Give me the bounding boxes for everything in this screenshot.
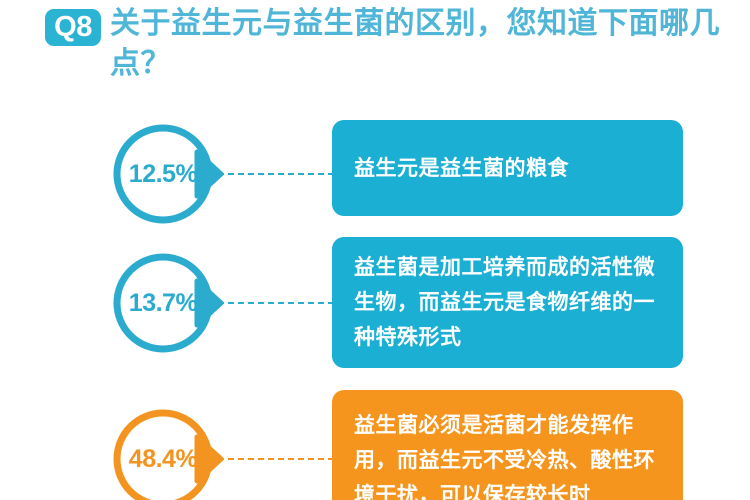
percentage-value: 13.7% — [113, 253, 213, 353]
answer-box: 益生菌是加工培养而成的活性微生物，而益生元是食物纤维的一种特殊形式 — [332, 237, 683, 368]
percentage-bubble: 48.4% — [113, 409, 213, 500]
dashed-connector — [218, 173, 334, 175]
percentage-value: 12.5% — [113, 124, 213, 224]
page-title: 关于益生元与益生菌的区别，您知道下面哪几点？ — [110, 4, 730, 84]
answer-box: 益生元是益生菌的粮食 — [332, 120, 683, 216]
answer-text: 益生菌是加工培养而成的活性微生物，而益生元是食物纤维的一种特殊形式 — [354, 250, 661, 355]
percentage-value: 48.4% — [113, 409, 213, 500]
stat-row: 48.4% 益生菌必须是活菌才能发挥作用，而益生元不受冷热、酸性环境干扰，可以保… — [0, 383, 750, 500]
header: Q8 关于益生元与益生菌的区别，您知道下面哪几点？ — [0, 0, 750, 100]
dashed-connector — [218, 458, 334, 460]
answer-text: 益生元是益生菌的粮食 — [354, 151, 569, 186]
percentage-bubble: 12.5% — [113, 124, 213, 224]
dashed-connector — [218, 302, 334, 304]
stat-row: 13.7% 益生菌是加工培养而成的活性微生物，而益生元是食物纤维的一种特殊形式 — [0, 232, 750, 377]
infographic-canvas: Q8 关于益生元与益生菌的区别，您知道下面哪几点？ 12.5% 益生元是益生菌的… — [0, 0, 750, 500]
answer-text: 益生菌必须是活菌才能发挥作用，而益生元不受冷热、酸性环境干扰，可以保存较长时 — [354, 408, 661, 500]
percentage-bubble: 13.7% — [113, 253, 213, 353]
stat-row: 12.5% 益生元是益生菌的粮食 — [0, 110, 750, 230]
question-number-badge: Q8 — [45, 9, 101, 46]
answer-box: 益生菌必须是活菌才能发挥作用，而益生元不受冷热、酸性环境干扰，可以保存较长时 — [332, 390, 683, 500]
